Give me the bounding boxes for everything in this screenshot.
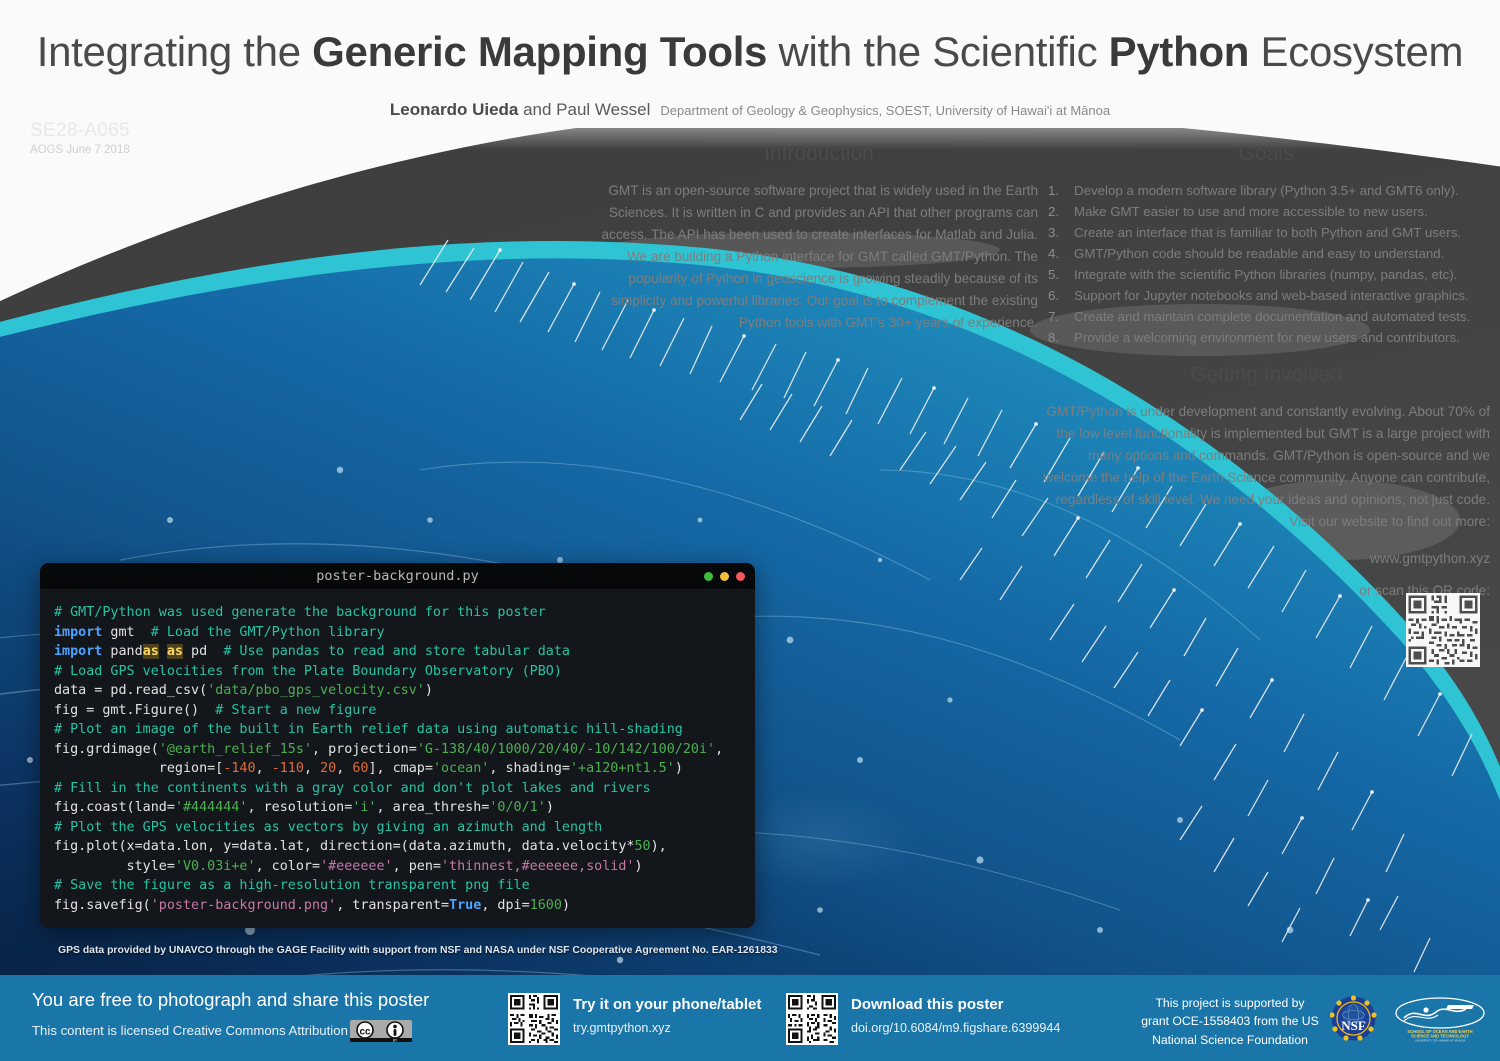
window-dot-1[interactable] — [720, 572, 729, 581]
code-filename: poster-background.py — [316, 568, 479, 584]
getting-involved-heading: Getting Involved — [1042, 363, 1490, 387]
code-line: # Fill in the continents with a gray col… — [54, 781, 651, 796]
qr-code-icon — [508, 993, 560, 1045]
qr-code-icon — [786, 993, 838, 1045]
soest-logo-icon: SCHOOL OF OCEAN AND EARTH SCIENCE AND TE… — [1390, 996, 1490, 1042]
code-line: fig.grdimage('@earth_relief_15s', projec… — [54, 742, 723, 757]
title-bold-python: Python — [1109, 28, 1250, 75]
author-line: Leonardo Uieda and Paul WesselDepartment… — [0, 100, 1500, 120]
nsf-logo: NSF — [1330, 995, 1377, 1047]
introduction-heading: Introduction — [600, 142, 1038, 166]
goals-section: Goals Develop a modern software library … — [1042, 142, 1490, 348]
window-control-dots[interactable] — [704, 572, 745, 581]
poster-root: Integrating the Generic Mapping Tools wi… — [0, 0, 1500, 1061]
code-line: fig.coast(land='#444444', resolution='i'… — [54, 800, 554, 815]
gps-data-credit: GPS data provided by UNAVCO through the … — [58, 945, 778, 956]
goal-item: GMT/Python code should be readable and e… — [1042, 243, 1490, 264]
code-line: # Plot an image of the built in Earth re… — [54, 722, 683, 737]
goal-item: Create an interface that is familiar to … — [1042, 222, 1490, 243]
introduction-body: GMT is an open-source software project t… — [600, 180, 1038, 334]
footer-qr-download-heading: Download this poster — [851, 996, 1060, 1013]
code-line: fig.plot(x=data.lon, y=data.lat, directi… — [54, 839, 667, 854]
goal-item: Create and maintain complete documentati… — [1042, 306, 1490, 327]
creative-commons-badge[interactable]: cc BY — [350, 1020, 412, 1047]
footer-qr-download[interactable]: Download this poster doi.org/10.6084/m9.… — [786, 993, 1060, 1045]
getting-involved-body: GMT/Python is under development and cons… — [1042, 401, 1490, 533]
footer-qr-try-it-heading: Try it on your phone/tablet — [573, 996, 761, 1013]
nsf-logo-text: NSF — [1341, 1018, 1366, 1033]
title-block: Integrating the Generic Mapping Tools wi… — [0, 0, 1500, 130]
getting-involved-section: Getting Involved GMT/Python is under dev… — [1042, 363, 1490, 598]
goal-item: Integrate with the scientific Python lib… — [1042, 264, 1490, 285]
window-dot-0[interactable] — [704, 572, 713, 581]
author-secondary: and Paul Wessel — [518, 100, 650, 119]
footer-share-heading: You are free to photograph and share thi… — [32, 989, 429, 1011]
code-line: import pandas as pd # Use pandas to read… — [54, 644, 570, 659]
footer-qr-try-it-url[interactable]: try.gmtpython.xyz — [573, 1021, 761, 1035]
code-line: import gmt # Load the GMT/Python library — [54, 625, 385, 640]
goal-item: Make GMT easier to use and more accessib… — [1042, 201, 1490, 222]
code-line: style='V0.03i+e', color='#eeeeee', pen='… — [54, 859, 643, 874]
goals-heading: Goals — [1042, 142, 1490, 166]
code-content: # GMT/Python was used generate the backg… — [40, 589, 755, 915]
footer-qr-try-it[interactable]: Try it on your phone/tablet try.gmtpytho… — [508, 993, 761, 1045]
title-part-3: Ecosystem — [1249, 28, 1463, 75]
introduction-section: Introduction GMT is an open-source softw… — [600, 142, 1038, 334]
page-title: Integrating the Generic Mapping Tools wi… — [0, 28, 1500, 76]
nsf-logo-icon: NSF — [1330, 995, 1377, 1042]
code-window-titlebar: poster-background.py — [40, 563, 755, 589]
session-date: AOGS June 7 2018 — [30, 144, 130, 156]
gmtpython-qr-code[interactable] — [1406, 593, 1480, 672]
code-line: # Save the figure as a high-resolution t… — [54, 878, 530, 893]
code-line: fig = gmt.Figure() # Start a new figure — [54, 703, 377, 718]
title-bold-gmt: Generic Mapping Tools — [312, 28, 767, 75]
code-line: # GMT/Python was used generate the backg… — [54, 605, 546, 620]
author-affiliation: Department of Geology & Geophysics, SOES… — [660, 103, 1110, 118]
soest-line-3: UNIVERSITY OF HAWAI'I AT MANOA — [1415, 1039, 1466, 1043]
code-line: # Plot the GPS velocities as vectors by … — [54, 820, 602, 835]
code-line: data = pd.read_csv('data/pbo_gps_velocit… — [54, 683, 433, 698]
footer-qr-download-doi[interactable]: doi.org/10.6084/m9.figshare.6399944 — [851, 1021, 1060, 1035]
footer-bar: You are free to photograph and share thi… — [0, 975, 1500, 1061]
qr-code-icon — [1406, 593, 1480, 667]
goal-item: Support for Jupyter notebooks and web-ba… — [1042, 285, 1490, 306]
goals-list: Develop a modern software library (Pytho… — [1042, 180, 1490, 348]
svg-text:cc: cc — [359, 1027, 371, 1038]
code-window: poster-background.py # GMT/Python was us… — [40, 563, 755, 928]
author-primary: Leonardo Uieda — [390, 100, 518, 119]
author-names: Leonardo Uieda and Paul Wessel — [390, 100, 650, 119]
goal-item: Provide a welcoming environment for new … — [1042, 327, 1490, 348]
code-line: # Load GPS velocities from the Plate Bou… — [54, 664, 562, 679]
footer-license-text: This content is licensed Creative Common… — [32, 1023, 370, 1038]
creative-commons-by-icon: cc BY — [350, 1020, 412, 1042]
code-line: region=[-140, -110, 20, 60], cmap='ocean… — [54, 761, 683, 776]
goal-item: Develop a modern software library (Pytho… — [1042, 180, 1490, 201]
gmtpython-website-link[interactable]: www.gmtpython.xyz — [1042, 551, 1490, 566]
title-part-2: with the Scientific — [767, 28, 1109, 75]
code-line: fig.savefig('poster-background.png', tra… — [54, 898, 570, 913]
window-dot-2[interactable] — [736, 572, 745, 581]
title-part-1: Integrating the — [37, 28, 312, 75]
footer-qr-try-it-text: Try it on your phone/tablet try.gmtpytho… — [573, 993, 761, 1035]
soest-logo: SCHOOL OF OCEAN AND EARTH SCIENCE AND TE… — [1390, 996, 1490, 1047]
footer-qr-download-text: Download this poster doi.org/10.6084/m9.… — [851, 993, 1060, 1035]
funding-statement: This project is supported by grant OCE-1… — [1140, 994, 1320, 1049]
